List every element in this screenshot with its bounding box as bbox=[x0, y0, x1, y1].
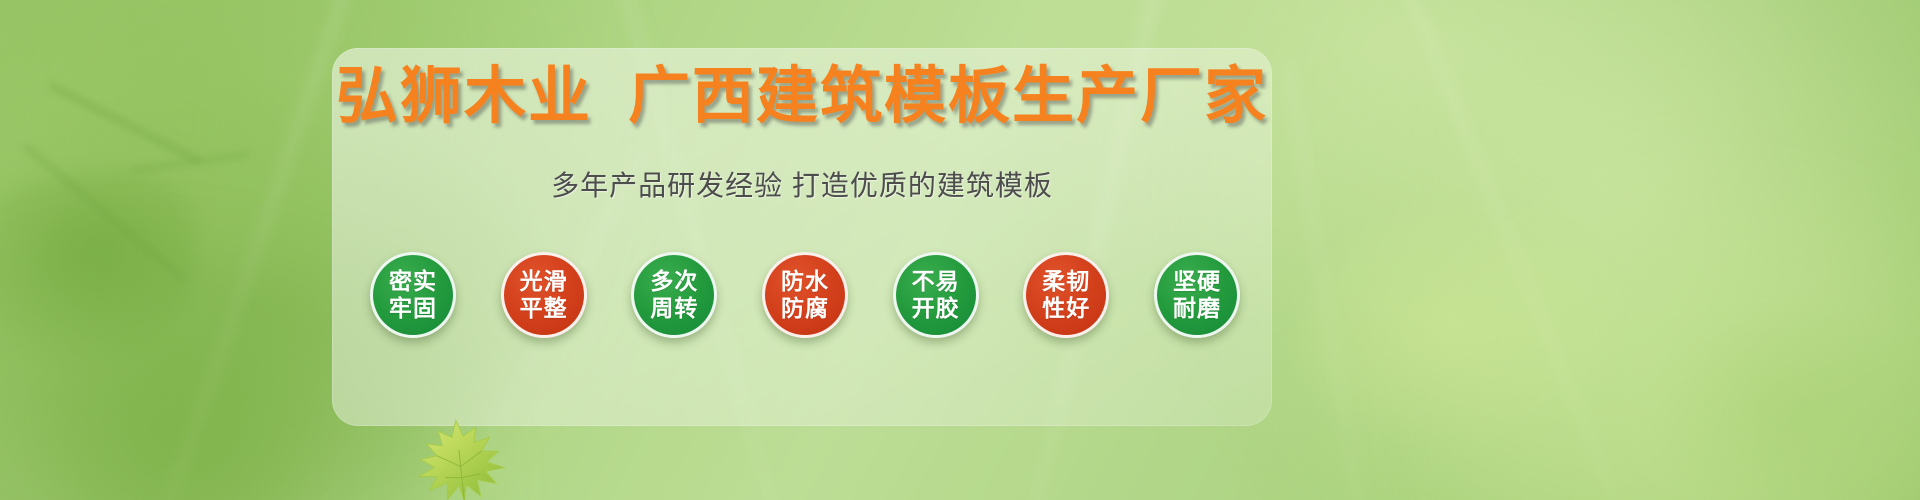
badge-line-1: 不易 bbox=[912, 268, 960, 295]
badge-line-2: 开胶 bbox=[912, 295, 960, 322]
page-title: 弘狮木业广西建筑模板生产厂家 bbox=[332, 58, 1272, 136]
feature-badge-hard-wear-resistant[interactable]: 坚硬 耐磨 bbox=[1154, 252, 1240, 338]
badge-line-1: 坚硬 bbox=[1173, 268, 1221, 295]
feature-badge-row: 密实 牢固 光滑 平整 多次 周转 防水 防腐 不易 开胶 柔韧 性好 坚硬 耐… bbox=[370, 240, 1240, 350]
badge-line-2: 性好 bbox=[1042, 295, 1090, 322]
headline-company-name: 弘狮木业 bbox=[336, 62, 592, 131]
badge-line-1: 防水 bbox=[781, 268, 829, 295]
badge-line-1: 柔韧 bbox=[1042, 268, 1090, 295]
maple-leaf-icon bbox=[408, 413, 512, 500]
badge-line-1: 密实 bbox=[389, 268, 437, 295]
headline-tagline: 广西建筑模板生产厂家 bbox=[628, 62, 1268, 131]
badge-line-2: 耐磨 bbox=[1173, 295, 1221, 322]
badge-line-2: 周转 bbox=[650, 295, 698, 322]
background-leaf-4 bbox=[1650, 300, 1920, 500]
feature-badge-dense-firm[interactable]: 密实 牢固 bbox=[370, 252, 456, 338]
subtitle: 多年产品研发经验 打造优质的建筑模板 bbox=[332, 166, 1272, 206]
feature-badge-waterproof-antiseptic[interactable]: 防水 防腐 bbox=[762, 252, 848, 338]
badge-line-1: 多次 bbox=[650, 268, 698, 295]
feature-badge-multi-turnover[interactable]: 多次 周转 bbox=[631, 252, 717, 338]
badge-line-2: 牢固 bbox=[389, 295, 437, 322]
feature-badge-flexible[interactable]: 柔韧 性好 bbox=[1023, 252, 1109, 338]
badge-line-2: 平整 bbox=[520, 295, 568, 322]
promo-banner: 弘狮木业广西建筑模板生产厂家 多年产品研发经验 打造优质的建筑模板 密实 牢固 … bbox=[0, 0, 1920, 500]
badge-line-1: 光滑 bbox=[520, 268, 568, 295]
badge-line-2: 防腐 bbox=[781, 295, 829, 322]
feature-badge-smooth-flat[interactable]: 光滑 平整 bbox=[501, 252, 587, 338]
feature-badge-no-delamination[interactable]: 不易 开胶 bbox=[893, 252, 979, 338]
